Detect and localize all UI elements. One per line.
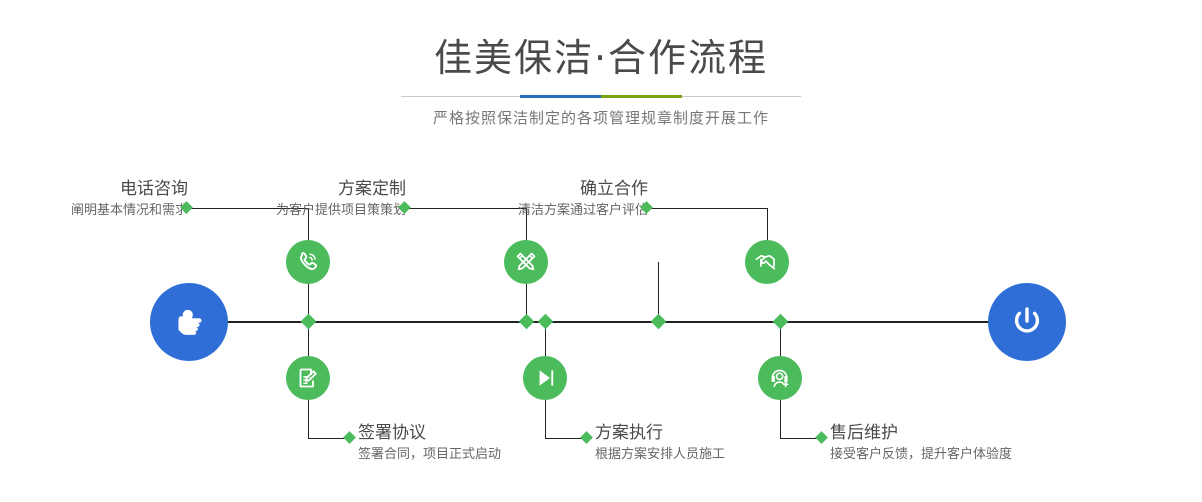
step-icon-badge[interactable] [758, 356, 802, 400]
document-edit-icon [295, 365, 321, 391]
step-icon-badge[interactable] [286, 356, 330, 400]
customer-support-icon [767, 365, 793, 391]
timeline-end-node[interactable] [988, 283, 1066, 361]
page-header: 佳美保洁·合作流程 严格按照保洁制定的各项管理规章制度开展工作 [0, 0, 1202, 150]
page-subtitle: 严格按照保洁制定的各项管理规章制度开展工作 [0, 105, 1202, 131]
step-desc: 为客户提供项目策策划 [168, 200, 406, 222]
step-icon-badge[interactable] [745, 240, 789, 284]
handshake-icon [754, 249, 781, 276]
step-leader-horizontal [648, 208, 768, 209]
step-desc: 签署合同，项目正式启动 [358, 444, 618, 466]
step-icon-badge[interactable] [286, 240, 330, 284]
step-label: 方案执行 根据方案安排人员施工 [595, 422, 855, 466]
step-leader-horizontal [308, 438, 348, 439]
step-marker-diamond [773, 314, 789, 330]
timeline-axis [150, 321, 1052, 323]
step-icon-badge[interactable] [523, 356, 567, 400]
step-marker-diamond [301, 314, 317, 330]
divider-segment-blue [520, 95, 601, 98]
step-title: 签署协议 [358, 422, 618, 444]
divider-rule-right [682, 96, 801, 97]
step-desc: 根据方案安排人员施工 [595, 444, 855, 466]
step-label: 售后维护 接受客户反馈，提升客户体验度 [830, 422, 1120, 466]
step-desc: 清洁方案通过客户评估 [410, 200, 648, 222]
step-label: 方案定制 为客户提供项目策策划 [168, 178, 406, 222]
step-label: 电话咨询 阐明基本情况和需求 [0, 178, 188, 222]
phone-call-icon [295, 249, 321, 275]
pointing-hand-icon [169, 302, 209, 342]
step-title: 方案执行 [595, 422, 855, 444]
play-execute-icon [532, 365, 558, 391]
step-label: 确立合作 清洁方案通过客户评估 [410, 178, 648, 222]
step-desc: 阐明基本情况和需求 [0, 200, 188, 222]
page-title: 佳美保洁·合作流程 [0, 32, 1202, 84]
step-label: 签署协议 签署合同，项目正式启动 [358, 422, 618, 466]
step-marker-diamond [538, 314, 554, 330]
step-marker-diamond [519, 314, 535, 330]
process-timeline: 电话咨询 阐明基本情况和需求 签署协议 签署合同，项目 [0, 150, 1202, 502]
step-icon-badge[interactable] [504, 240, 548, 284]
step-title: 确立合作 [410, 178, 648, 200]
divider-segment-green [601, 95, 682, 98]
step-marker-diamond [651, 314, 667, 330]
power-icon [1006, 301, 1048, 343]
timeline-start-node[interactable] [150, 283, 228, 361]
step-label-diamond [343, 431, 356, 444]
step-title: 售后维护 [830, 422, 1120, 444]
step-title: 方案定制 [168, 178, 406, 200]
divider-rule-left [401, 96, 520, 97]
step-title: 电话咨询 [0, 178, 188, 200]
step-desc: 接受客户反馈，提升客户体验度 [830, 444, 1120, 466]
title-divider [401, 95, 801, 98]
pen-pencil-icon [513, 249, 539, 275]
